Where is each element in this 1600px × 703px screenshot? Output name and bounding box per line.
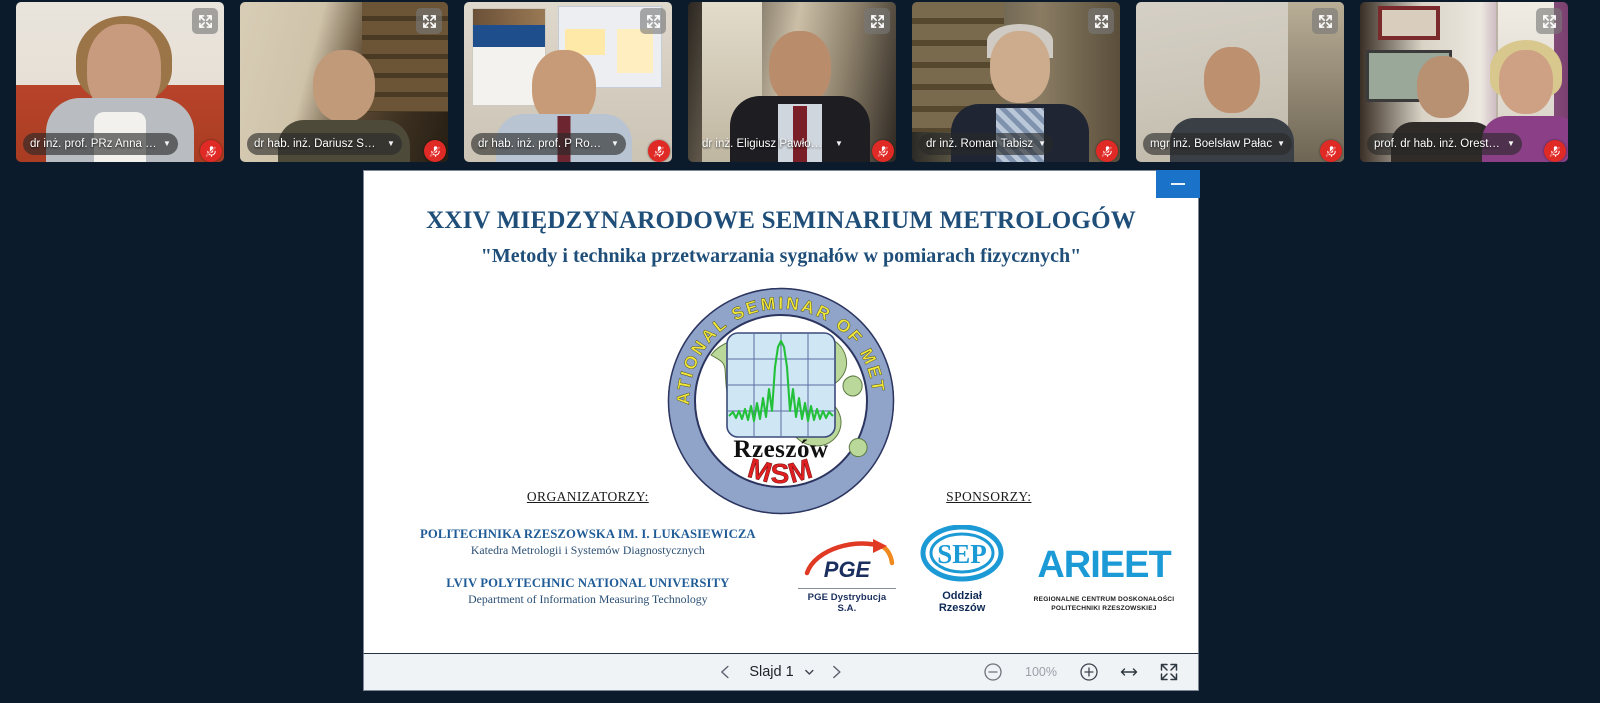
chevron-down-icon — [804, 666, 816, 678]
participant-tile[interactable]: dr hab. inż. prof. P Robert … ▼ — [464, 2, 672, 162]
shared-presentation: XXIV MIĘDZYNARODOWE SEMINARIUM METROLOGÓ… — [363, 170, 1199, 691]
participant-name-row: dr hab. inż. Dariusz Świsuls… ▼ — [247, 133, 441, 155]
chevron-down-icon[interactable]: ▼ — [1277, 140, 1285, 148]
svg-text:MSM: MSM — [745, 452, 818, 489]
participant-video-strip: dr inż. prof. PRz Anna Szlac… ▼ — [0, 0, 1600, 164]
sponsor-logo-row: PGE PGE Dystrybucja S.A. SEP Oddział Rze… — [798, 525, 1180, 614]
organizer-name: LVIV POLYTECHNIC NATIONAL UNIVERSITY — [378, 576, 798, 591]
slide-canvas[interactable]: XXIV MIĘDZYNARODOWE SEMINARIUM METROLOGÓ… — [363, 170, 1199, 653]
organizer-department: Katedra Metrologii i Systemów Diagnostyc… — [378, 543, 798, 558]
participant-name: dr inż. Eligiusz Pawłowski — [702, 138, 830, 150]
sponsors-column: SPONSORZY: PGE PGE Dystrybucja S.A. — [798, 489, 1198, 614]
participant-tile[interactable]: dr inż. Eligiusz Pawłowski ▼ — [688, 2, 896, 162]
chevron-down-icon[interactable]: ▼ — [163, 140, 171, 148]
slide-bottom-columns: ORGANIZATORZY: POLITECHNIKA RZESZOWSKA I… — [364, 489, 1198, 614]
svg-text:ARIEET: ARIEET — [1037, 544, 1171, 586]
microphone-muted-icon — [1096, 140, 1118, 162]
sponsor-label: REGIONALNE CENTRUM DOSKONAŁOŚCIPOLITECHN… — [1028, 596, 1180, 614]
expand-icon[interactable] — [192, 8, 218, 34]
participant-tile[interactable]: dr inż. Roman Tabisz ▼ — [912, 2, 1120, 162]
sponsor-arieet: ARIEET REGIONALNE CENTRUM DOSKONAŁOŚCIPO… — [1028, 541, 1180, 614]
microphone-muted-icon — [1320, 140, 1342, 162]
participant-name-row: dr inż. prof. PRz Anna Szlac… ▼ — [23, 133, 217, 155]
fullscreen-icon[interactable] — [1156, 659, 1182, 685]
sponsors-heading: SPONSORZY: — [798, 489, 1180, 505]
participant-name-pill[interactable]: dr hab. inż. prof. P Robert … ▼ — [471, 133, 626, 155]
zoom-level: 100% — [1020, 665, 1062, 679]
chevron-right-icon[interactable] — [824, 659, 850, 685]
microphone-muted-icon — [424, 140, 446, 162]
expand-icon[interactable] — [416, 8, 442, 34]
participant-name-row: dr inż. Roman Tabisz ▼ — [919, 133, 1113, 155]
pge-logo-icon: PGE — [799, 533, 895, 581]
participant-name: mgr inż. Boelsław Pałac — [1150, 138, 1272, 150]
slide-subtitle: "Metody i technika przetwarzania sygnałó… — [364, 245, 1198, 268]
organizer-entry: POLITECHNIKA RZESZOWSKA IM. I. LUKASIEWI… — [378, 527, 798, 558]
microphone-muted-icon — [1544, 140, 1566, 162]
participant-name-pill[interactable]: dr inż. Eligiusz Pawłowski ▼ — [695, 133, 850, 155]
organizer-name: POLITECHNIKA RZESZOWSKA IM. I. LUKASIEWI… — [378, 527, 798, 542]
presentation-toolbar: Slajd 1 100% — [363, 653, 1199, 691]
chevron-left-icon[interactable] — [712, 659, 738, 685]
organizers-heading: ORGANIZATORZY: — [378, 489, 798, 505]
slide-selector[interactable]: Slajd 1 — [742, 664, 819, 680]
participant-name-row: prof. dr hab. inż. Orest Ivak… ▼ — [1367, 133, 1561, 155]
participant-name-pill[interactable]: prof. dr hab. inż. Orest Ivak… ▼ — [1367, 133, 1522, 155]
participant-tile[interactable]: dr hab. inż. Dariusz Świsuls… ▼ — [240, 2, 448, 162]
zoom-out-icon[interactable] — [980, 659, 1006, 685]
participant-name-pill[interactable]: dr hab. inż. Dariusz Świsuls… ▼ — [247, 133, 402, 155]
slide-navigation: Slajd 1 — [712, 659, 849, 685]
participant-name-pill[interactable]: mgr inż. Boelsław Pałac ▼ — [1143, 133, 1292, 155]
expand-icon[interactable] — [640, 8, 666, 34]
participant-tile[interactable]: prof. dr hab. inż. Orest Ivak… ▼ — [1360, 2, 1568, 162]
zoom-controls: 100% — [980, 659, 1182, 685]
expand-icon[interactable] — [1088, 8, 1114, 34]
chevron-down-icon[interactable]: ▼ — [611, 140, 619, 148]
slide-label: Slajd 1 — [746, 664, 796, 680]
chevron-down-icon[interactable]: ▼ — [1507, 140, 1515, 148]
participant-name-row: dr hab. inż. prof. P Robert … ▼ — [471, 133, 665, 155]
chevron-down-icon[interactable]: ▼ — [387, 140, 395, 148]
svg-text:SEP: SEP — [937, 539, 987, 569]
arieet-logo-icon: ARIEET — [1028, 541, 1180, 589]
minimize-icon — [1171, 183, 1185, 185]
participant-tile[interactable]: dr inż. prof. PRz Anna Szlac… ▼ — [16, 2, 224, 162]
chevron-down-icon[interactable]: ▼ — [835, 140, 843, 148]
sponsor-sep: SEP Oddział Rzeszów — [918, 525, 1006, 614]
participant-name: dr inż. prof. PRz Anna Szlac… — [30, 138, 158, 150]
msm-logo: Rzeszów INTERNATIONAL SEMINAR OF METROLO… — [659, 279, 903, 523]
chevron-down-icon[interactable]: ▼ — [1038, 140, 1046, 148]
sponsor-pge: PGE PGE Dystrybucja S.A. — [798, 533, 897, 614]
expand-icon[interactable] — [1536, 8, 1562, 34]
organizer-department: Department of Information Measuring Tech… — [378, 592, 798, 607]
participant-name-pill[interactable]: dr inż. Roman Tabisz ▼ — [919, 133, 1053, 155]
expand-icon[interactable] — [1312, 8, 1338, 34]
participant-name-row: dr inż. Eligiusz Pawłowski ▼ — [695, 133, 889, 155]
organizers-column: ORGANIZATORZY: POLITECHNIKA RZESZOWSKA I… — [364, 489, 798, 614]
sep-logo-icon: SEP — [920, 525, 1004, 583]
microphone-muted-icon — [648, 140, 670, 162]
microphone-muted-icon — [200, 140, 222, 162]
participant-name: dr hab. inż. Dariusz Świsuls… — [254, 138, 382, 150]
sponsor-label: Oddział Rzeszów — [918, 590, 1006, 614]
svg-text:PGE: PGE — [824, 557, 872, 581]
participant-name-pill[interactable]: dr inż. prof. PRz Anna Szlac… ▼ — [23, 133, 178, 155]
microphone-muted-icon — [872, 140, 894, 162]
expand-icon[interactable] — [864, 8, 890, 34]
fit-width-icon[interactable] — [1116, 659, 1142, 685]
organizer-entry: LVIV POLYTECHNIC NATIONAL UNIVERSITY Dep… — [378, 576, 798, 607]
sponsor-label-line1: REGIONALNE CENTRUM DOSKONAŁOŚCIPOLITECHN… — [1034, 596, 1175, 612]
participant-name: dr inż. Roman Tabisz — [926, 138, 1033, 150]
participant-name: prof. dr hab. inż. Orest Ivak… — [1374, 138, 1502, 150]
minimize-button[interactable] — [1156, 170, 1200, 198]
meeting-window: dr inż. prof. PRz Anna Szlac… ▼ — [0, 0, 1600, 703]
participant-name-row: mgr inż. Boelsław Pałac ▼ — [1143, 133, 1337, 155]
participant-name: dr hab. inż. prof. P Robert … — [478, 138, 606, 150]
participant-tile[interactable]: mgr inż. Boelsław Pałac ▼ — [1136, 2, 1344, 162]
slide-title: XXIV MIĘDZYNARODOWE SEMINARIUM METROLOGÓ… — [364, 207, 1198, 235]
zoom-in-icon[interactable] — [1076, 659, 1102, 685]
sponsor-label: PGE Dystrybucja S.A. — [798, 588, 897, 614]
